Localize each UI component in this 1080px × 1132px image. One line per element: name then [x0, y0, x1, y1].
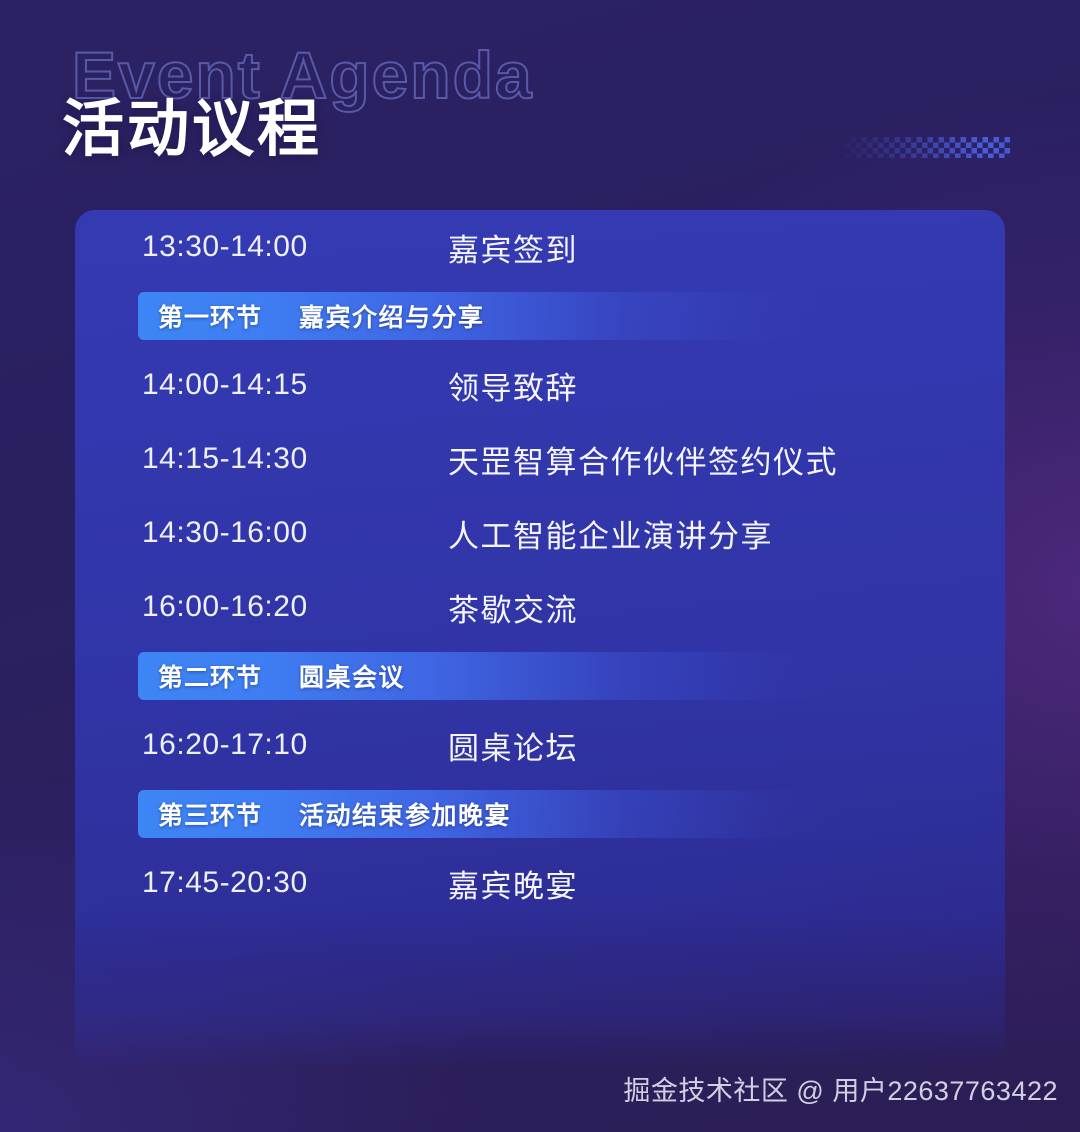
- agenda-list: 13:30-14:00嘉宾签到第一环节嘉宾介绍与分享14:00-14:15领导致…: [75, 210, 1005, 920]
- slot-title: 嘉宾签到: [448, 225, 578, 270]
- section-tag: 第三环节: [158, 796, 262, 832]
- slot-title: 茶歇交流: [448, 585, 578, 630]
- section-banner: 第一环节嘉宾介绍与分享: [138, 292, 830, 340]
- slot-time: 14:30-16:00: [142, 516, 448, 550]
- section-banner: 第三环节活动结束参加晚宴: [138, 790, 830, 838]
- poster-header: Event Agenda 活动议程: [62, 42, 1022, 192]
- slot-time: 14:15-14:30: [142, 442, 448, 476]
- agenda-poster: Event Agenda 活动议程 13:30-14:00嘉宾签到第一环节嘉宾介…: [0, 0, 1080, 1132]
- slot-title: 嘉宾晚宴: [448, 861, 578, 906]
- agenda-section-row: 第一环节嘉宾介绍与分享: [75, 284, 1005, 348]
- section-tag: 第一环节: [158, 298, 262, 334]
- slot-title: 领导致辞: [448, 363, 578, 408]
- section-name: 嘉宾介绍与分享: [299, 298, 485, 334]
- page-title: 活动议程: [62, 94, 322, 165]
- agenda-slot-row: 14:30-16:00人工智能企业演讲分享: [75, 496, 1005, 570]
- agenda-card: 13:30-14:00嘉宾签到第一环节嘉宾介绍与分享14:00-14:15领导致…: [75, 210, 1005, 1065]
- section-tag: 第二环节: [158, 658, 262, 694]
- slot-title: 圆桌论坛: [448, 723, 578, 768]
- watermark: 掘金技术社区 @ 用户22637763422: [623, 1069, 1058, 1108]
- slot-time: 16:20-17:10: [142, 728, 448, 762]
- agenda-slot-row: 14:15-14:30天罡智算合作伙伴签约仪式: [75, 422, 1005, 496]
- slot-time: 16:00-16:20: [142, 590, 448, 624]
- checker-decoration: [845, 137, 1010, 158]
- agenda-slot-row: 16:00-16:20茶歇交流: [75, 570, 1005, 644]
- section-banner: 第二环节圆桌会议: [138, 652, 830, 700]
- section-name: 圆桌会议: [299, 658, 405, 694]
- agenda-slot-row: 17:45-20:30嘉宾晚宴: [75, 846, 1005, 920]
- agenda-slot-row: 16:20-17:10圆桌论坛: [75, 708, 1005, 782]
- slot-title: 天罡智算合作伙伴签约仪式: [448, 437, 838, 482]
- slot-time: 13:30-14:00: [142, 230, 448, 264]
- agenda-section-row: 第三环节活动结束参加晚宴: [75, 782, 1005, 846]
- slot-title: 人工智能企业演讲分享: [448, 511, 773, 556]
- slot-time: 14:00-14:15: [142, 368, 448, 402]
- slot-time: 17:45-20:30: [142, 866, 448, 900]
- agenda-section-row: 第二环节圆桌会议: [75, 644, 1005, 708]
- agenda-slot-row: 13:30-14:00嘉宾签到: [75, 210, 1005, 284]
- agenda-slot-row: 14:00-14:15领导致辞: [75, 348, 1005, 422]
- section-name: 活动结束参加晚宴: [299, 796, 511, 832]
